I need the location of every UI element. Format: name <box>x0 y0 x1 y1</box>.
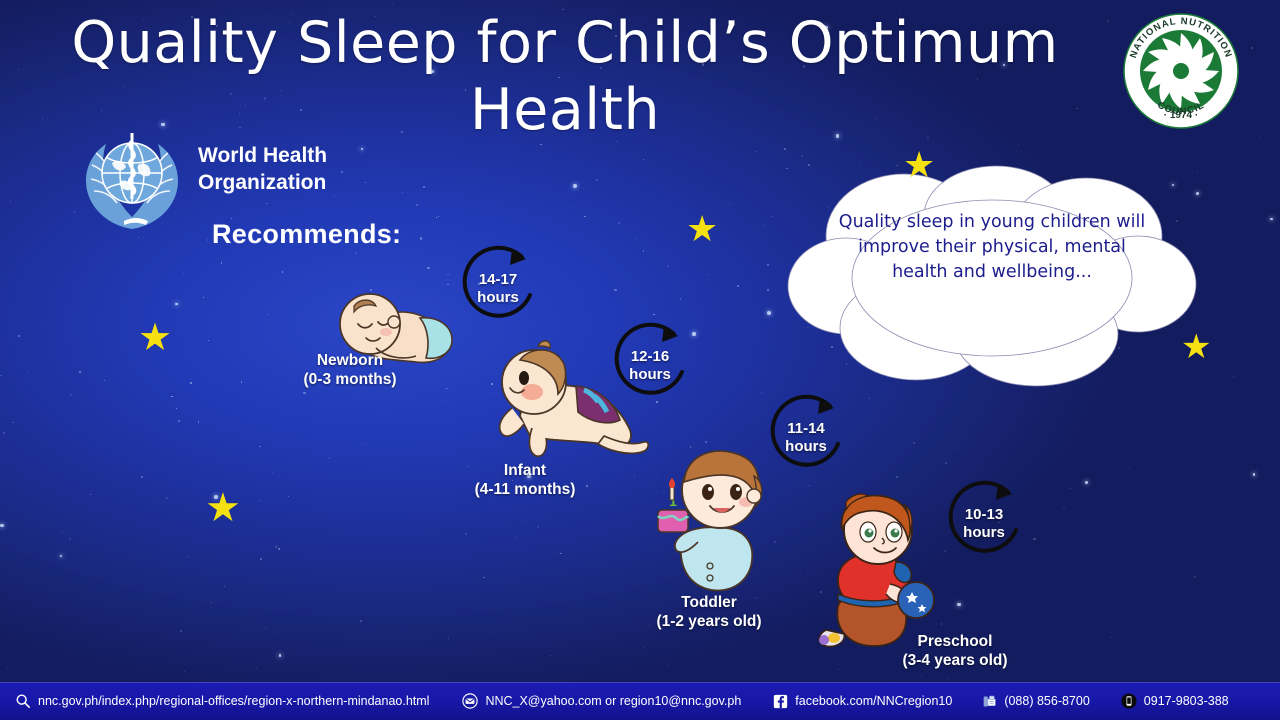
footer-website[interactable]: nnc.gov.ph/index.php/regional-offices/re… <box>14 692 429 710</box>
footer-facebook-text: facebook.com/NNCregion10 <box>795 694 952 708</box>
star-icon: ★ <box>205 488 241 528</box>
age-group-label-toddler: Toddler (1-2 years old) <box>588 594 830 632</box>
footer-website-text: nnc.gov.ph/index.php/regional-offices/re… <box>38 694 429 708</box>
footer-mobile-text: 0917-9803-388 <box>1144 694 1229 708</box>
star-icon: ★ <box>1181 330 1211 364</box>
age-group-label-preschool: Preschool (3-4 years old) <box>830 633 1080 671</box>
age-group-name: Newborn <box>230 352 470 371</box>
facebook-icon <box>771 692 789 710</box>
envelope-icon <box>461 692 479 710</box>
age-group-range: (0-3 months) <box>230 371 470 390</box>
footer-telephone-text: (088) 856-8700 <box>1004 694 1089 708</box>
sleep-infographic-poster: Quality Sleep for Child’s Optimum Health <box>0 0 1280 720</box>
nnc-logo: NATIONAL NUTRITION COUNCIL · 1974 · <box>1122 12 1240 130</box>
star-icon: ★ <box>138 318 172 356</box>
age-group-range: (4-11 months) <box>400 481 650 500</box>
age-group-range: (3-4 years old) <box>830 652 1080 671</box>
age-group-label-newborn: Newborn (0-3 months) <box>230 352 470 390</box>
mobile-phone-icon <box>1120 692 1138 710</box>
age-group-name: Toddler <box>588 594 830 613</box>
age-group-range: (1-2 years old) <box>588 613 830 632</box>
who-logo <box>76 125 188 237</box>
age-group-label-infant: Infant (4-11 months) <box>400 462 650 500</box>
who-name-line1: World Health <box>198 142 458 169</box>
sleep-hours-badge-infant: 12-16 hours <box>604 320 696 412</box>
age-group-name: Preschool <box>830 633 1080 652</box>
footer-facebook[interactable]: facebook.com/NNCregion10 <box>771 692 952 710</box>
search-icon <box>14 692 32 710</box>
cloud-callout: Quality sleep in young children will imp… <box>786 158 1198 390</box>
page-title: Quality Sleep for Child’s Optimum Health <box>55 10 1075 145</box>
fax-icon <box>980 692 998 710</box>
cloud-message: Quality sleep in young children will imp… <box>786 210 1198 285</box>
footer-email[interactable]: NNC_X@yahoo.com or region10@nnc.gov.ph <box>461 692 741 710</box>
footer-email-text: NNC_X@yahoo.com or region10@nnc.gov.ph <box>485 694 741 708</box>
star-icon: ★ <box>686 212 718 248</box>
recommends-label: Recommends: <box>212 219 401 250</box>
footer-mobile[interactable]: 0917-9803-388 <box>1120 692 1229 710</box>
who-name-line2: Organization <box>198 169 458 196</box>
sleep-hours-badge-toddler: 11-14 hours <box>760 392 852 484</box>
who-organization-name: World Health Organization <box>198 142 458 197</box>
sleep-hours-badge-newborn: 14-17 hours <box>452 243 544 335</box>
sleep-hours-badge-preschool: 10-13 hours <box>938 478 1030 570</box>
age-group-name: Infant <box>400 462 650 481</box>
nnc-year: · 1974 · <box>1164 110 1198 121</box>
contact-footer-bar: nnc.gov.ph/index.php/regional-offices/re… <box>0 682 1280 720</box>
footer-telephone[interactable]: (088) 856-8700 <box>980 692 1089 710</box>
star-icon: ★ <box>903 148 935 184</box>
